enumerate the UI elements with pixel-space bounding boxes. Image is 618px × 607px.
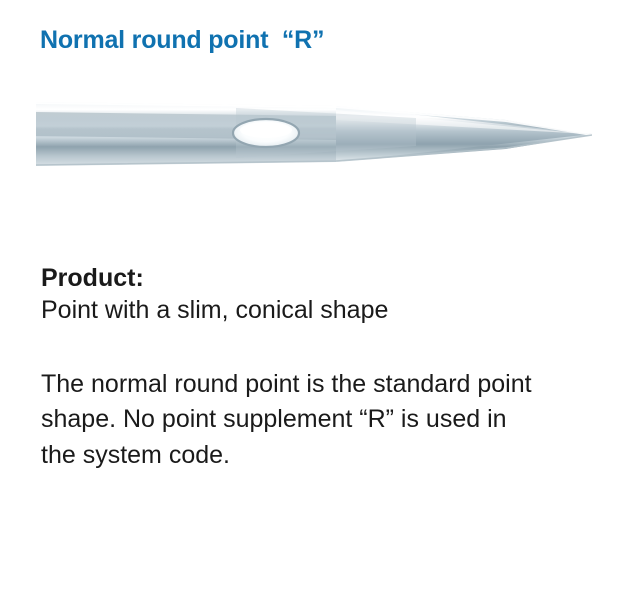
- body-content: Product: Point with a slim, conical shap…: [41, 262, 581, 473]
- page-title: Normal round point “R”: [40, 26, 324, 55]
- product-label: Product:: [41, 262, 581, 294]
- needle-illustration: [36, 96, 592, 168]
- product-description: Point with a slim, conical shape: [41, 294, 581, 327]
- document-page: Normal round point “R”: [0, 0, 618, 607]
- paragraph-spacer: [41, 327, 581, 367]
- description-paragraph: The normal round point is the standard p…: [41, 367, 541, 474]
- needle-eye-highlight: [240, 122, 292, 138]
- needle-svg: [36, 96, 592, 168]
